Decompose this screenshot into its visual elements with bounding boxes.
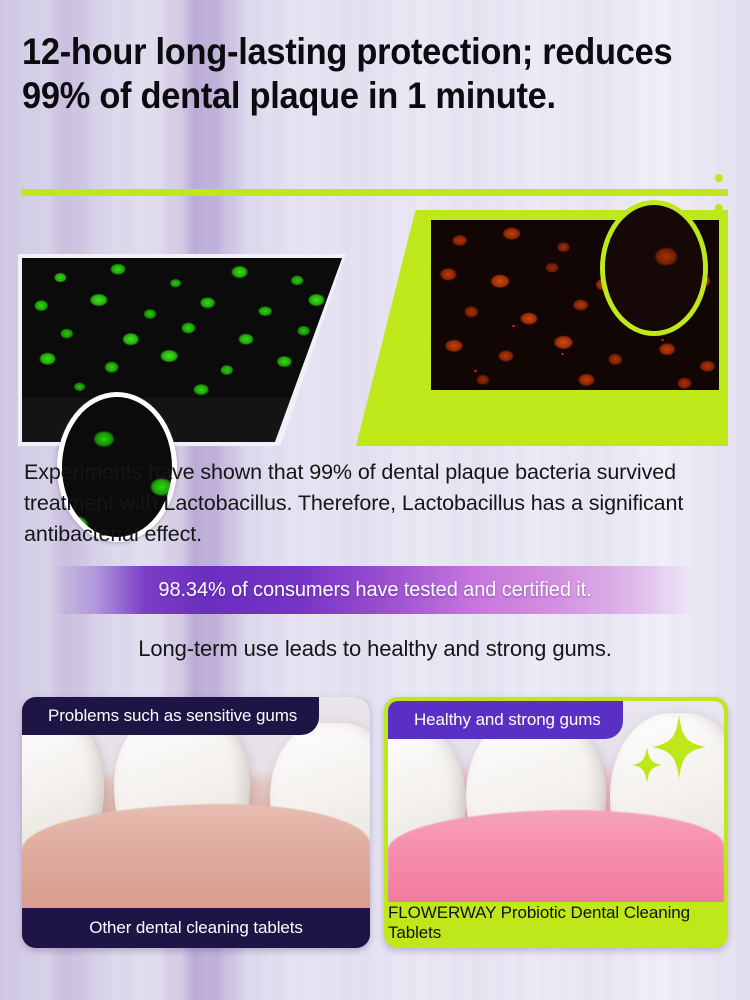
banner-text: 98.34% of consumers have tested and cert… — [158, 579, 591, 602]
card-footer-label: FLOWERWAY Probiotic Dental Cleaning Tabl… — [388, 902, 724, 944]
sparkle-small-icon — [632, 747, 662, 783]
lime-magnifier-circle — [600, 200, 708, 336]
magenta-speck-icon — [661, 339, 664, 341]
gum-shape — [22, 804, 370, 912]
gum-shape — [388, 810, 724, 906]
subtitle-text: Long-term use leads to healthy and stron… — [0, 636, 750, 662]
product-comparison-cards: Problems such as sensitive gums Other de… — [0, 697, 750, 952]
body-paragraph: Experiments have shown that 99% of denta… — [24, 457, 724, 550]
consumer-certification-banner: 98.34% of consumers have tested and cert… — [55, 566, 695, 614]
card-flowerway-tablets: Healthy and strong gums FLOWERWAY Probio… — [384, 697, 728, 948]
card-badge-healthy: Healthy and strong gums — [388, 701, 623, 739]
page-title: 12-hour long-lasting protection; reduces… — [22, 30, 673, 118]
card-badge-problem: Problems such as sensitive gums — [22, 697, 319, 735]
green-bacteria-texture — [22, 258, 342, 398]
card-footer-label: Other dental cleaning tablets — [22, 908, 370, 948]
magenta-speck-icon — [561, 353, 564, 355]
magenta-speck-icon — [474, 370, 477, 372]
lime-divider-rule — [21, 189, 728, 196]
infographic-page: 12-hour long-lasting protection; reduces… — [0, 0, 750, 1000]
magenta-speck-icon — [512, 325, 515, 327]
magnified-red-bacteria — [600, 200, 708, 336]
divider-dot-top-icon — [715, 174, 723, 182]
card-other-tablets: Problems such as sensitive gums Other de… — [22, 697, 370, 948]
